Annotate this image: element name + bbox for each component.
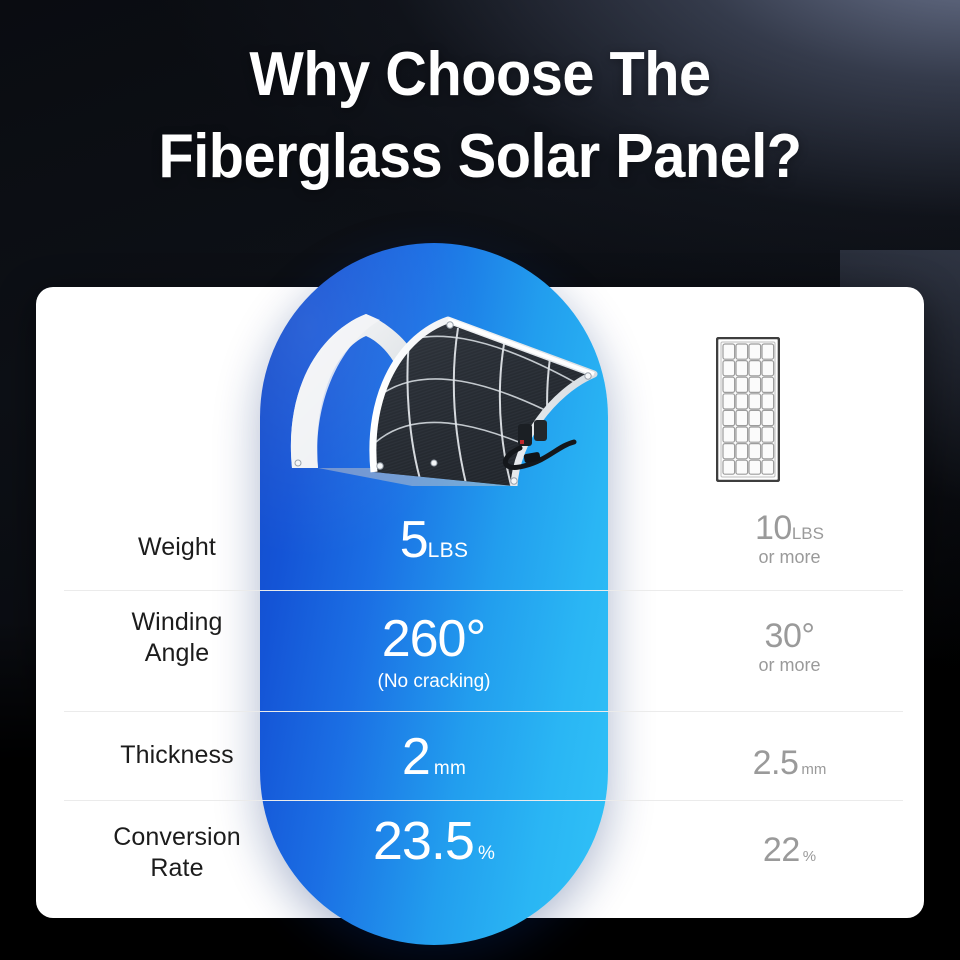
ours-thickness-number: 2 (402, 728, 430, 786)
row-label-winding-angle: Winding Angle (64, 607, 290, 669)
ours-thickness-unit: mm (430, 758, 466, 779)
page-title-line-2: Fiberglass Solar Panel? (34, 116, 927, 198)
ours-angle-number: 260 (382, 610, 466, 668)
theirs-weight-number: 10 (755, 509, 792, 547)
page-title: Why Choose The Fiberglass Solar Panel? (34, 34, 927, 198)
row-divider (64, 711, 903, 712)
ours-value-thickness: 2mm (260, 731, 608, 783)
row-label-line-1: Winding (131, 608, 222, 636)
ours-conversion-number: 23.5 (373, 811, 474, 871)
ours-angle-unit: ° (465, 610, 486, 668)
ours-value-weight: 5LBS (260, 514, 608, 566)
comparison-rows: Weight Winding Angle Thickness Conversio… (36, 287, 924, 918)
row-label-conversion-rate: Conversion Rate (64, 822, 290, 884)
ours-weight-number: 5 (400, 511, 428, 569)
ours-conversion-unit: % (474, 843, 495, 864)
theirs-value-thickness: 2.5mm (676, 746, 903, 780)
page-title-line-1: Why Choose The (249, 40, 710, 109)
row-divider (64, 800, 903, 801)
row-label-weight: Weight (64, 532, 290, 563)
row-label-thickness: Thickness (64, 740, 290, 771)
infographic-canvas: Why Choose The Fiberglass Solar Panel? (0, 0, 960, 960)
theirs-angle-unit: ° (801, 617, 814, 655)
theirs-weight-unit: LBS (792, 524, 824, 543)
ours-angle-note: (No cracking) (260, 671, 608, 693)
row-label-line-1: Conversion (113, 823, 240, 851)
theirs-angle-note: or more (676, 655, 903, 676)
row-divider (64, 590, 903, 591)
ours-weight-unit: LBS (428, 539, 469, 562)
theirs-value-weight: 10LBS or more (676, 511, 903, 568)
theirs-value-conversion-rate: 22% (676, 833, 903, 867)
ours-value-winding-angle: 260° (No cracking) (260, 609, 608, 693)
theirs-angle-number: 30 (765, 617, 802, 655)
theirs-conversion-unit: % (800, 848, 816, 865)
theirs-weight-note: or more (676, 547, 903, 568)
theirs-conversion-number: 22 (763, 831, 800, 869)
row-label-line-2: Angle (145, 639, 209, 667)
ours-value-conversion-rate: 23.5% (260, 814, 608, 868)
theirs-thickness-unit: mm (798, 761, 826, 778)
theirs-thickness-number: 2.5 (753, 744, 799, 782)
theirs-value-winding-angle: 30° or more (676, 619, 903, 676)
row-label-line-2: Rate (150, 854, 203, 882)
